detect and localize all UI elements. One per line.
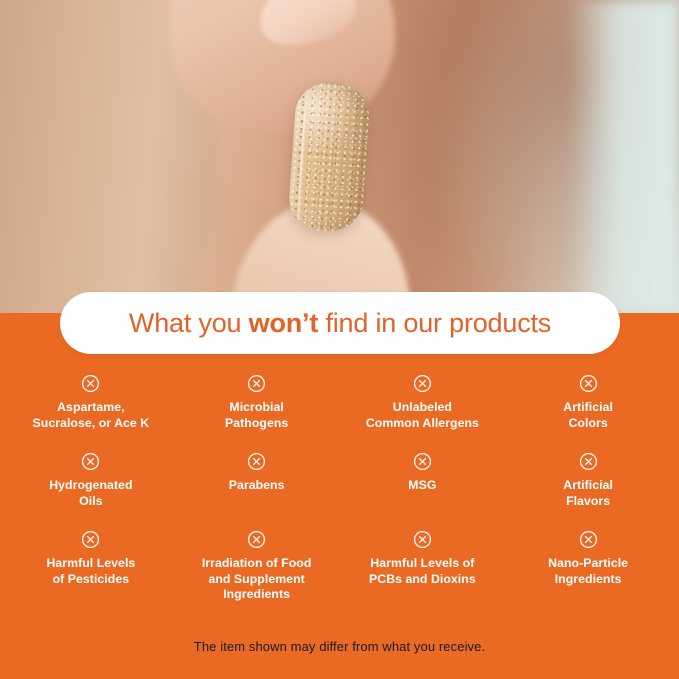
circle-x-icon xyxy=(247,374,266,393)
excluded-item-label: Aspartame, Sucralose, or Ace K xyxy=(33,400,150,431)
excluded-item: Irradiation of Food and Supplement Ingre… xyxy=(174,524,340,602)
circle-x-icon xyxy=(247,530,266,549)
headline-after: find in our products xyxy=(318,308,551,338)
excluded-item: MSG xyxy=(340,446,506,524)
circle-x-icon xyxy=(413,452,432,471)
excluded-item: Nano-Particle Ingredients xyxy=(505,524,671,602)
excluded-item-label: Hydrogenated Oils xyxy=(49,478,132,509)
circle-x-icon xyxy=(579,452,598,471)
excluded-item-label: Irradiation of Food and Supplement Ingre… xyxy=(202,556,312,603)
photo-mint-edge xyxy=(569,0,679,313)
product-infographic: What you won’t find in our products Aspa… xyxy=(0,0,679,679)
excluded-item: Artificial Flavors xyxy=(505,446,671,524)
excluded-item-label: Parabens xyxy=(229,478,285,494)
headline-emphasis: won’t xyxy=(249,308,318,338)
circle-x-icon xyxy=(413,374,432,393)
excluded-item-label: Harmful Levels of Pesticides xyxy=(46,556,135,587)
circle-x-icon xyxy=(579,530,598,549)
circle-x-icon xyxy=(81,452,100,471)
excluded-item-label: Nano-Particle Ingredients xyxy=(548,556,628,587)
circle-x-icon xyxy=(81,530,100,549)
excluded-item-label: Microbial Pathogens xyxy=(225,400,288,431)
excluded-item-label: Artificial Flavors xyxy=(563,478,613,509)
excluded-item-label: Unlabeled Common Allergens xyxy=(366,400,479,431)
excluded-item: Aspartame, Sucralose, or Ace K xyxy=(8,368,174,446)
excluded-item: Harmful Levels of PCBs and Dioxins xyxy=(340,524,506,602)
hero-photo xyxy=(0,0,679,313)
page-title: What you won’t find in our products xyxy=(129,308,551,339)
disclaimer-text: The item shown may differ from what you … xyxy=(0,639,679,654)
excluded-item: Microbial Pathogens xyxy=(174,368,340,446)
excluded-item: Harmful Levels of Pesticides xyxy=(8,524,174,602)
headline-pill: What you won’t find in our products xyxy=(60,292,620,354)
excluded-item: Hydrogenated Oils xyxy=(8,446,174,524)
excluded-item: Artificial Colors xyxy=(505,368,671,446)
circle-x-icon xyxy=(81,374,100,393)
supplement-tablet xyxy=(287,81,371,234)
excluded-item-label: MSG xyxy=(408,478,436,494)
excluded-item: Unlabeled Common Allergens xyxy=(340,368,506,446)
circle-x-icon xyxy=(413,530,432,549)
excluded-item-label: Artificial Colors xyxy=(563,400,613,431)
headline-before: What you xyxy=(129,308,249,338)
excluded-item-label: Harmful Levels of PCBs and Dioxins xyxy=(369,556,476,587)
circle-x-icon xyxy=(247,452,266,471)
excluded-ingredients-grid: Aspartame, Sucralose, or Ace K Microbial… xyxy=(8,368,671,602)
circle-x-icon xyxy=(579,374,598,393)
excluded-item: Parabens xyxy=(174,446,340,524)
